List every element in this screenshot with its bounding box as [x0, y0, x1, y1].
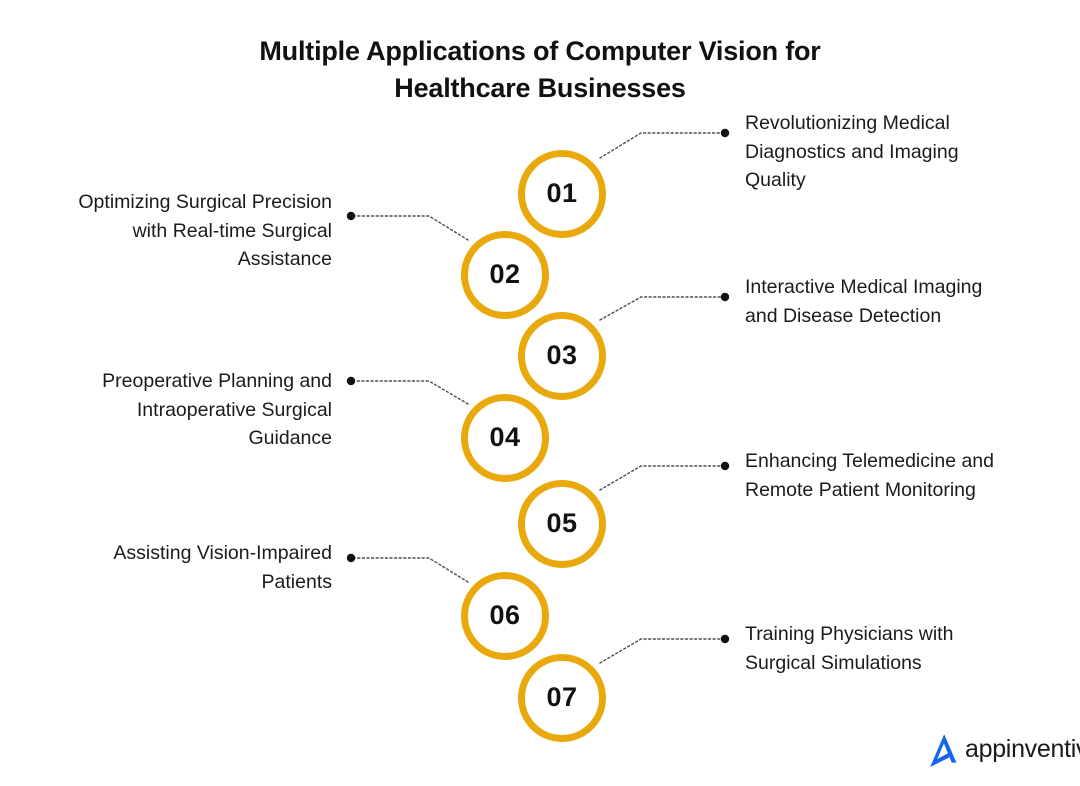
connector-01 — [600, 133, 723, 158]
label-07: Training Physicians with Surgical Simula… — [745, 620, 1015, 677]
connector-dot-03 — [721, 293, 729, 301]
label-05: Enhancing Telemedicine and Remote Patien… — [745, 447, 1015, 504]
node-number-04: 04 — [489, 424, 520, 451]
connector-03 — [600, 297, 723, 320]
connector-dot-07 — [721, 635, 729, 643]
node-circle-05[interactable]: 05 — [518, 480, 606, 568]
node-circle-07[interactable]: 07 — [518, 654, 606, 742]
label-04: Preoperative Planning and Intraoperative… — [62, 367, 332, 453]
node-number-06: 06 — [489, 602, 520, 629]
node-number-03: 03 — [546, 342, 577, 369]
infographic-canvas: Multiple Applications of Computer Vision… — [0, 0, 1080, 786]
node-number-05: 05 — [546, 510, 577, 537]
node-circle-01[interactable]: 01 — [518, 150, 606, 238]
brand-logo-text: appinventiv — [965, 737, 1080, 762]
connector-dot-04 — [347, 377, 355, 385]
connector-dot-01 — [721, 129, 729, 137]
label-02: Optimizing Surgical Precision with Real-… — [62, 188, 332, 274]
connector-07 — [600, 639, 723, 663]
connector-06 — [355, 558, 468, 582]
connector-dot-06 — [347, 554, 355, 562]
node-circle-04[interactable]: 04 — [461, 394, 549, 482]
connector-dot-05 — [721, 462, 729, 470]
label-06: Assisting Vision-Impaired Patients — [62, 539, 332, 596]
node-number-01: 01 — [546, 180, 577, 207]
label-03: Interactive Medical Imaging and Disease … — [745, 273, 1015, 330]
appinventiv-a-mark-icon — [925, 731, 963, 767]
label-01: Revolutionizing Medical Diagnostics and … — [745, 109, 1015, 195]
node-number-07: 07 — [546, 684, 577, 711]
node-circle-02[interactable]: 02 — [461, 231, 549, 319]
connector-05 — [600, 466, 723, 490]
node-circle-03[interactable]: 03 — [518, 312, 606, 400]
connector-02 — [355, 216, 468, 240]
brand-logo[interactable]: appinventiv — [925, 731, 1080, 767]
node-circle-06[interactable]: 06 — [461, 572, 549, 660]
connector-04 — [355, 381, 468, 404]
connector-dot-02 — [347, 212, 355, 220]
node-number-02: 02 — [489, 261, 520, 288]
